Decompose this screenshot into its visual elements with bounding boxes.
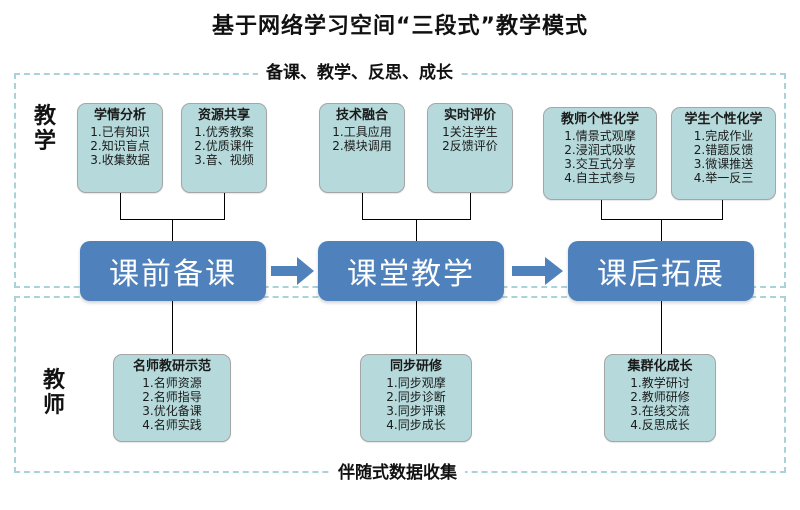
connector-line [224,193,225,219]
connector-line [362,193,363,219]
card-title: 技术融合 [320,108,404,124]
card-top-3[interactable]: 技术融合 1.工具应用 2.模块调用 [319,103,405,193]
card-item: 4.自主式参与 [544,171,656,185]
connector-line [470,193,471,219]
stage-box-2[interactable]: 课堂教学 [318,241,504,301]
region-teaching-label: 备课、教学、反思、成长 [258,63,461,83]
region-teacher-label: 伴随式数据收集 [330,463,465,483]
card-item: 3.音、视频 [182,153,266,167]
card-top-1[interactable]: 学情分析 1.已有知识 2.知识盲点 3.收集数据 [77,103,163,193]
connector-line [172,219,173,243]
card-item: 2.知识盲点 [78,139,162,153]
connector-line [661,299,662,354]
card-title: 实时评价 [428,108,512,124]
card-top-5[interactable]: 教师个性化学 1.情景式观摩 2.浸润式吸收 3.交互式分享 4.自主式参与 [543,107,657,200]
card-item: 3.交互式分享 [544,157,656,171]
card-item: 2.浸润式吸收 [544,143,656,157]
side-label-teacher: 教师 [41,368,67,418]
card-item: 2.模块调用 [320,139,404,153]
card-item: 3.在线交流 [605,404,715,418]
card-item: 2反馈评价 [428,139,512,153]
card-title: 同步研修 [361,359,471,375]
connector-line [601,219,723,220]
arrow-right-icon-2 [512,256,564,286]
card-item: 4.同步成长 [361,418,471,432]
card-item: 2.优质课件 [182,139,266,153]
connector-line [172,299,173,354]
card-item: 3.收集数据 [78,153,162,167]
card-item: 1.完成作业 [672,129,775,143]
card-item: 1.优秀教案 [182,125,266,139]
stage-box-1[interactable]: 课前备课 [80,241,266,301]
card-item: 2.教师研修 [605,390,715,404]
connector-line [661,219,662,243]
card-title: 学生个性化学 [672,112,775,128]
card-top-2[interactable]: 资源共享 1.优秀教案 2.优质课件 3.音、视频 [181,103,267,193]
card-title: 名师教研示范 [114,359,230,375]
card-item: 1.情景式观摩 [544,129,656,143]
card-item: 4.举一反三 [672,171,775,185]
side-label-teaching: 教学 [32,104,58,154]
card-item: 1.教学研讨 [605,376,715,390]
card-item: 3.优化备课 [114,404,230,418]
card-item: 2.名师指导 [114,390,230,404]
card-item: 2.同步诊断 [361,390,471,404]
connector-line [601,200,602,219]
card-bottom-1[interactable]: 名师教研示范 1.名师资源 2.名师指导 3.优化备课 4.名师实践 [113,354,231,442]
connector-line [416,299,417,354]
card-top-6[interactable]: 学生个性化学 1.完成作业 2.错题反馈 3.微课推送 4.举一反三 [671,107,776,200]
connector-line [722,200,723,219]
stage-label: 课后拓展 [597,249,725,293]
connector-line [120,193,121,219]
card-title: 集群化成长 [605,359,715,375]
card-item: 1.同步观摩 [361,376,471,390]
card-item: 4.反思成长 [605,418,715,432]
card-item: 1.工具应用 [320,125,404,139]
card-item: 1关注学生 [428,125,512,139]
diagram-canvas: 基于网络学习空间“三段式”教学模式 备课、教学、反思、成长 伴随式数据收集 教学… [0,0,800,510]
page-title: 基于网络学习空间“三段式”教学模式 [0,8,800,40]
card-item: 1.已有知识 [78,125,162,139]
connector-line [416,219,417,243]
card-bottom-2[interactable]: 同步研修 1.同步观摩 2.同步诊断 3.同步评课 4.同步成长 [360,354,472,442]
card-top-4[interactable]: 实时评价 1关注学生 2反馈评价 [427,103,513,193]
card-item: 3.微课推送 [672,157,775,171]
card-title: 学情分析 [78,108,162,124]
card-title: 资源共享 [182,108,266,124]
stage-box-3[interactable]: 课后拓展 [568,241,754,301]
card-item: 1.名师资源 [114,376,230,390]
card-item: 3.同步评课 [361,404,471,418]
stage-label: 课前备课 [109,249,237,293]
card-title: 教师个性化学 [544,112,656,128]
arrow-right-icon-1 [271,256,315,286]
card-item: 2.错题反馈 [672,143,775,157]
stage-label: 课堂教学 [347,249,475,293]
card-bottom-3[interactable]: 集群化成长 1.教学研讨 2.教师研修 3.在线交流 4.反思成长 [604,354,716,442]
card-item: 4.名师实践 [114,418,230,432]
